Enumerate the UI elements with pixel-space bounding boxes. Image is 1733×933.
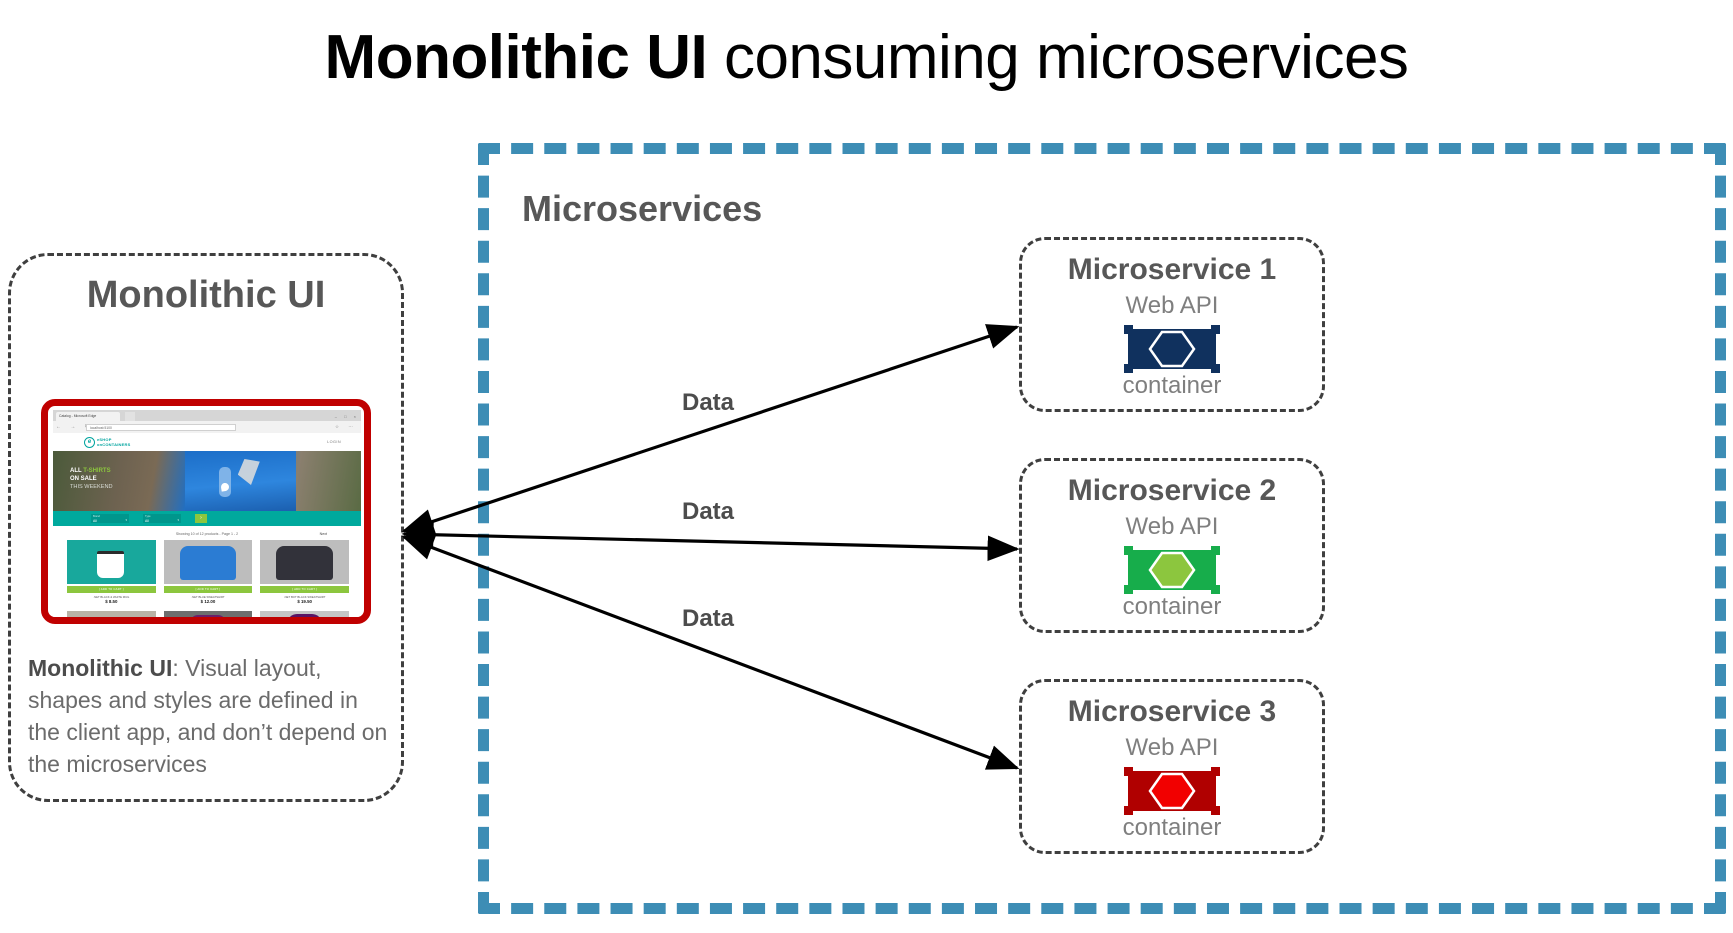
container-icon [1124,325,1220,373]
monolithic-ui-caption: Monolithic UI: Visual layout, shapes and… [28,652,388,780]
window-controls[interactable]: – □ × [335,412,359,421]
new-tab-button[interactable] [125,412,135,421]
microservice-title: Microservice 1 [1022,253,1322,287]
type-filter-label: Type [145,515,179,519]
product-grid-row-2 [67,611,349,619]
login-link[interactable]: LOGIN [327,440,341,445]
product-grid: [ ADD TO CART ] .NET BLACK & WHITE MUG $… [67,540,349,605]
type-filter-select[interactable]: Type All [143,514,181,523]
product-card[interactable]: [ ADD TO CART ] .NET BLUE SWEATSHIRT $ 1… [164,540,253,605]
microservice-container-label: container [1022,814,1322,842]
arrow-label-data-2: Data [682,498,734,526]
microservice-card-1: Microservice 1 Web API container [1019,237,1325,412]
product-image[interactable] [260,611,349,619]
type-filter-value: All [145,519,149,523]
arrow-label-data-1: Data [682,389,734,417]
add-to-cart-button[interactable]: [ ADD TO CART ] [260,586,349,593]
product-price: $ 8.50 [67,599,156,605]
container-icon [1124,546,1220,594]
hero-line-3: THIS WEEKEND [70,483,113,491]
microservice-card-2: Microservice 2 Web API container [1019,458,1325,633]
eshop-logo-line2: onCONTAINERS [97,443,130,448]
monolithic-ui-caption-strong: Monolithic UI [28,655,172,681]
browser-tab[interactable]: Catalog - Microsoft Edge [56,412,120,421]
results-count-text: Showing 10 of 12 products - Page 1 - 2 [53,530,361,538]
page-title-rest: consuming microservices [707,23,1408,92]
arrow-label-data-3: Data [682,605,734,633]
page-title-strong: Monolithic UI [325,23,708,92]
product-card[interactable]: [ ADD TO CART ] .NET BLACK & WHITE MUG $… [67,540,156,605]
browser-window: Catalog - Microsoft Edge – □ × ← → ↻ loc… [53,410,361,619]
monolithic-ui-screenshot: Catalog - Microsoft Edge – □ × ← → ↻ loc… [41,399,371,624]
hero-line-2: ON SALE [70,475,113,483]
browser-tool-icons[interactable]: ☆ ⋯ [335,421,357,433]
product-image[interactable] [67,611,156,619]
brand-filter-value: All [93,519,97,523]
page-title: Monolithic UI consuming microservices [0,18,1733,98]
microservice-title: Microservice 2 [1022,474,1322,508]
url-input[interactable]: localhost:5100 [86,424,236,431]
microservice-title: Microservice 3 [1022,695,1322,729]
microservice-card-3: Microservice 3 Web API container [1019,679,1325,854]
brand-filter-label: Brand [93,515,127,519]
product-price: $ 12.00 [164,599,253,605]
eshop-logo[interactable]: e eSHOP onCONTAINERS [84,437,130,448]
container-icon [1124,767,1220,815]
microservice-container-label: container [1022,372,1322,400]
product-image [260,540,349,584]
microservice-api-label: Web API [1022,292,1322,320]
microservice-api-label: Web API [1022,513,1322,541]
product-image [67,540,156,584]
hero-line-1-plain: ALL [70,468,83,474]
catalog-filter-bar: Brand All Type All › [53,511,361,526]
hero-line-1-accent: T-SHIRTS [83,468,110,474]
next-page-link[interactable]: Next [320,530,327,538]
microservices-boundary-label: Microservices [522,188,762,230]
hero-banner: ALL T-SHIRTS ON SALE THIS WEEKEND [53,451,361,511]
product-price: $ 19.50 [260,599,349,605]
add-to-cart-button[interactable]: [ ADD TO CART ] [164,586,253,593]
microservice-container-label: container [1022,593,1322,621]
monolithic-ui-title: Monolithic UI [8,274,404,317]
product-card[interactable]: [ ADD TO CART ] .NET BOT BLACK SWEATSHIR… [260,540,349,605]
hero-text: ALL T-SHIRTS ON SALE THIS WEEKEND [70,467,113,491]
filter-apply-button[interactable]: › [195,514,207,523]
hero-shirt-image [185,451,296,511]
eshop-logo-mark: e [84,437,95,448]
browser-tab-strip: Catalog - Microsoft Edge – □ × [53,410,361,421]
site-header: e eSHOP onCONTAINERS LOGIN [53,433,361,451]
product-image[interactable] [164,611,253,619]
hero-dotnet-bot-icon [219,467,231,497]
brand-filter-select[interactable]: Brand All [91,514,129,523]
microservice-api-label: Web API [1022,734,1322,762]
hero-line-1: ALL T-SHIRTS [70,467,113,475]
add-to-cart-button[interactable]: [ ADD TO CART ] [67,586,156,593]
product-image [164,540,253,584]
